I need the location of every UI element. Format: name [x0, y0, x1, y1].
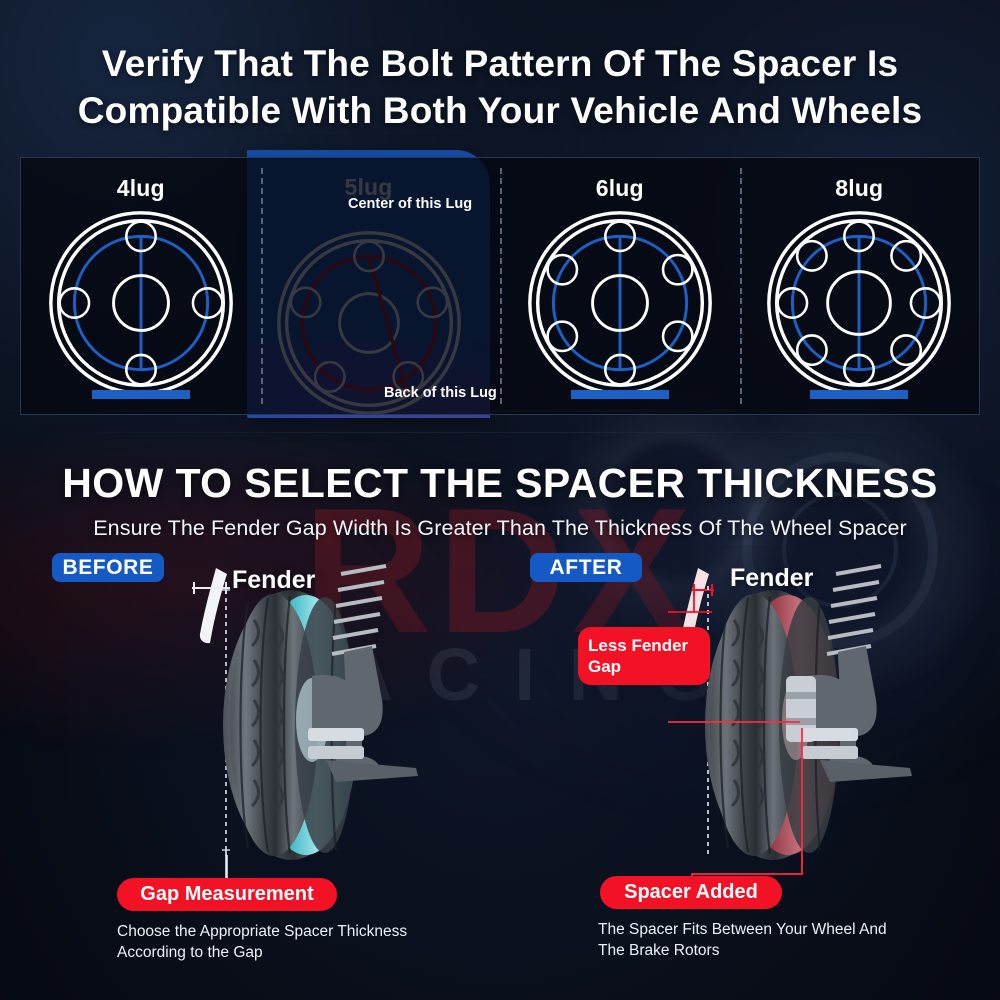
after-caption-line1: The Spacer Fits Between Your Wheel And	[598, 919, 928, 940]
section-heading-title: HOW TO SELECT THE SPACER THICKNESS	[0, 460, 1000, 507]
background-light-streak-2	[0, 432, 1000, 433]
spacer-added-badge: Spacer Added	[600, 876, 782, 909]
before-diagram	[186, 560, 506, 890]
lug-diagram-8lug	[761, 205, 957, 406]
lug-panel-8lug[interactable]: 8lug	[740, 158, 980, 414]
page-title-line2: Compatible With Both Your Vehicle And Wh…	[0, 87, 1000, 134]
hub-plate	[308, 746, 364, 759]
section-heading-subtitle: Ensure The Fender Gap Width Is Greater T…	[0, 516, 1000, 541]
after-caption-line2: The Brake Rotors	[598, 940, 928, 961]
lug-panel-4lug-title: 4lug	[117, 175, 165, 202]
before-fender-label: Fender	[232, 566, 315, 595]
rotor-plate	[308, 728, 364, 741]
lug-panel-8lug-underline	[810, 390, 908, 399]
less-fender-gap-line1: Less Fender	[588, 635, 688, 656]
lug-panel-6lug[interactable]: 6lug	[500, 158, 740, 414]
rotor-plate	[802, 728, 858, 741]
lug-panel-8lug-title: 8lug	[835, 175, 883, 202]
before-caption-line1: Choose the Appropriate Spacer Thickness	[117, 921, 447, 942]
before-badge: BEFORE	[52, 553, 164, 582]
lug-note-back-of-lug: Back of this Lug	[384, 385, 497, 401]
page-title: Verify That The Bolt Pattern Of The Spac…	[0, 40, 1000, 134]
infographic-page: RDX RACING Verify That The Bolt Pattern …	[0, 0, 1000, 1000]
after-callout-leader	[690, 728, 810, 880]
lug-note-center-of-lug: Center of this Lug	[348, 196, 472, 212]
lug-panel-6lug-underline	[571, 390, 669, 399]
strut-spring	[827, 566, 881, 654]
lug-panel-4lug[interactable]: 4lug	[21, 158, 261, 414]
page-title-line1: Verify That The Bolt Pattern Of The Spac…	[0, 40, 1000, 87]
before-caption-line2: According to the Gap	[117, 942, 447, 963]
less-fender-gap-badge: Less Fender Gap	[578, 627, 710, 685]
bolt-pattern-panel: 4lug	[20, 157, 980, 415]
after-caption: The Spacer Fits Between Your Wheel And T…	[598, 919, 928, 961]
lug-diagram-4lug	[43, 205, 239, 406]
lug-panel-4lug-underline	[92, 390, 190, 399]
section-heading: HOW TO SELECT THE SPACER THICKNESS Ensur…	[0, 460, 1000, 541]
lug-diagram-6lug	[522, 205, 718, 406]
lug-panel-6lug-title: 6lug	[596, 175, 644, 202]
less-fender-gap-line2: Gap	[588, 656, 621, 677]
fender-shape	[200, 568, 227, 643]
before-caption: Choose the Appropriate Spacer Thickness …	[117, 921, 447, 963]
after-fender-label: Fender	[730, 564, 813, 593]
hub-plate	[802, 746, 858, 759]
after-badge: AFTER	[530, 553, 642, 582]
gap-measurement-badge: Gap Measurement	[117, 878, 337, 911]
